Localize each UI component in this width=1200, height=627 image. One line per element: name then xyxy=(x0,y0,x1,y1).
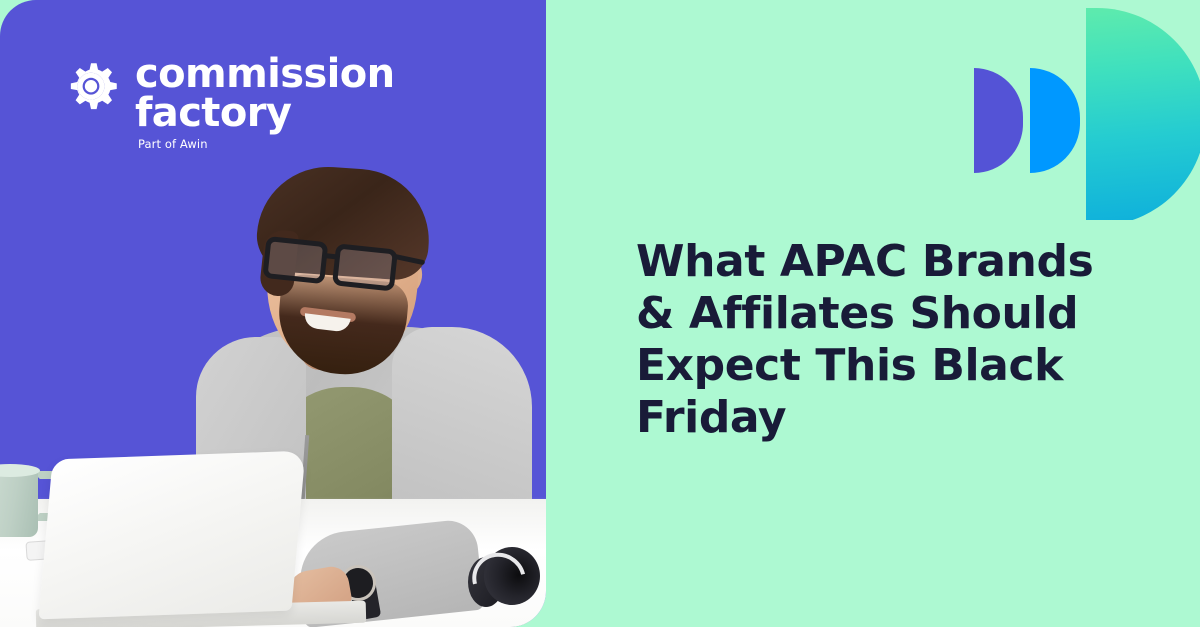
laptop-lid xyxy=(39,451,306,620)
headline-line-2: & Affilates Should xyxy=(636,288,1106,340)
logo-line-2: factory xyxy=(135,94,395,133)
logo-line-1: commission xyxy=(135,55,395,94)
gear-logo-icon xyxy=(63,61,119,117)
hero-photo-panel: commission factory Part of Awin xyxy=(0,0,546,627)
brand-decoration-shapes xyxy=(960,0,1200,220)
page-title: What APAC Brands & Affilates Should Expe… xyxy=(636,236,1106,444)
logo-tagline: Part of Awin xyxy=(138,137,395,151)
glasses-lens-right xyxy=(332,243,398,291)
glasses-temple xyxy=(393,254,425,266)
headline-line-4: Friday xyxy=(636,392,1106,444)
headphones-icon xyxy=(468,539,546,617)
half-circle-purple-icon xyxy=(974,68,1023,173)
commission-factory-logo[interactable]: commission factory Part of Awin xyxy=(63,55,395,151)
headline-line-3: Expect This Black xyxy=(636,340,1106,392)
glasses-lens-left xyxy=(262,236,328,284)
half-circle-blue-icon xyxy=(1030,68,1080,173)
logo-wordmark: commission factory Part of Awin xyxy=(135,55,395,151)
coffee-mug xyxy=(0,469,38,537)
half-circle-teal-gradient-icon xyxy=(1086,8,1200,220)
glasses-bridge xyxy=(325,253,339,259)
headline-line-1: What APAC Brands xyxy=(636,236,1106,288)
blog-hero-banner: commission factory Part of Awin What APA… xyxy=(0,0,1200,627)
